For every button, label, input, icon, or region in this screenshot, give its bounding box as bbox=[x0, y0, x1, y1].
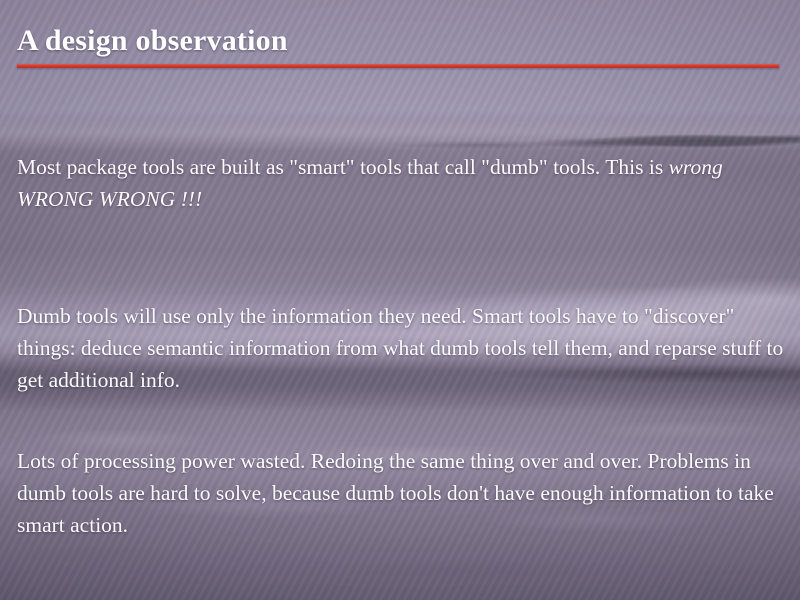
title-underline-rule bbox=[17, 64, 779, 68]
body-paragraph-1: Most package tools are built as "smart" … bbox=[17, 151, 789, 215]
paragraph-run-text: Lots of processing power wasted. Redoing… bbox=[17, 449, 774, 537]
body-paragraph-2: Dumb tools will use only the information… bbox=[17, 300, 789, 396]
body-paragraph-3: Lots of processing power wasted. Redoing… bbox=[17, 445, 789, 541]
presentation-slide: A design observation Most package tools … bbox=[0, 0, 800, 600]
paragraph-run-text: Most package tools are built as "smart" … bbox=[17, 155, 669, 179]
slide-title: A design observation bbox=[17, 24, 288, 58]
slide-content: A design observation Most package tools … bbox=[0, 0, 800, 600]
paragraph-run-text: Dumb tools will use only the information… bbox=[17, 304, 783, 392]
